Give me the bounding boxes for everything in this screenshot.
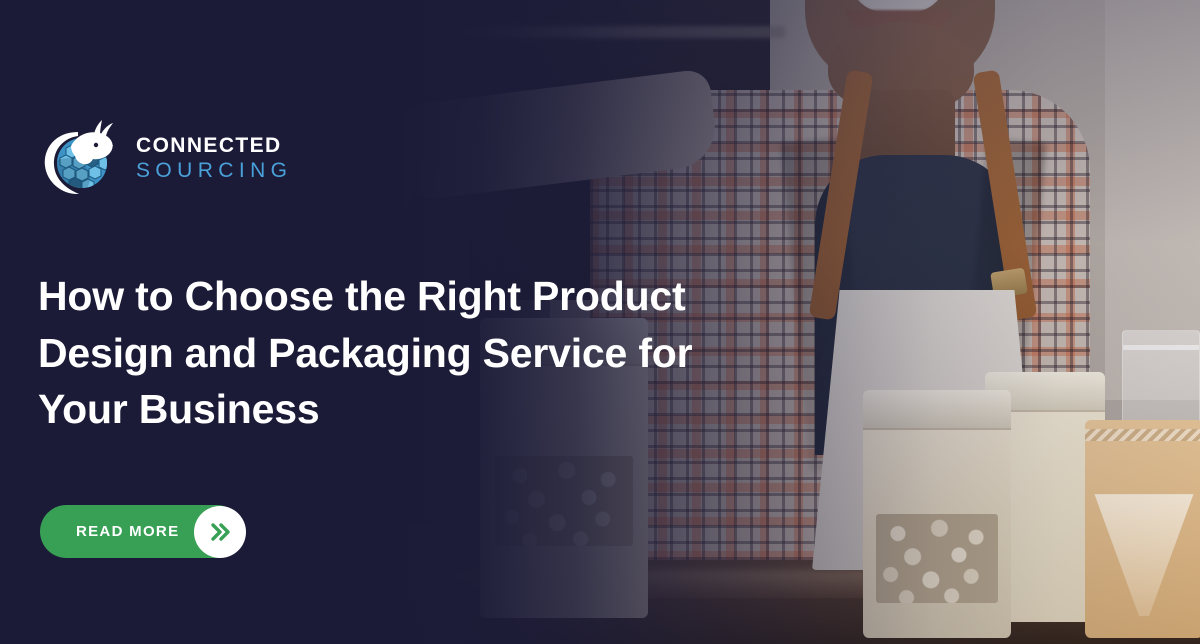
page-title: How to Choose the Right Product Design a…: [38, 268, 778, 438]
double-chevron-right-icon: [194, 506, 246, 558]
read-more-label: READ MORE: [76, 523, 179, 540]
brand-logo[interactable]: CONNECTED SOURCING: [38, 116, 292, 200]
brand-name-line2: SOURCING: [136, 160, 292, 181]
banner-content: CONNECTED SOURCING How to Choose the Rig…: [0, 0, 1200, 644]
brand-name-line1: CONNECTED: [136, 135, 292, 156]
read-more-button[interactable]: READ MORE: [40, 505, 243, 558]
brand-wordmark: CONNECTED SOURCING: [136, 135, 292, 181]
dragon-head-hexsphere-logo-icon: [38, 116, 122, 200]
hero-banner: CONNECTED SOURCING How to Choose the Rig…: [0, 0, 1200, 644]
